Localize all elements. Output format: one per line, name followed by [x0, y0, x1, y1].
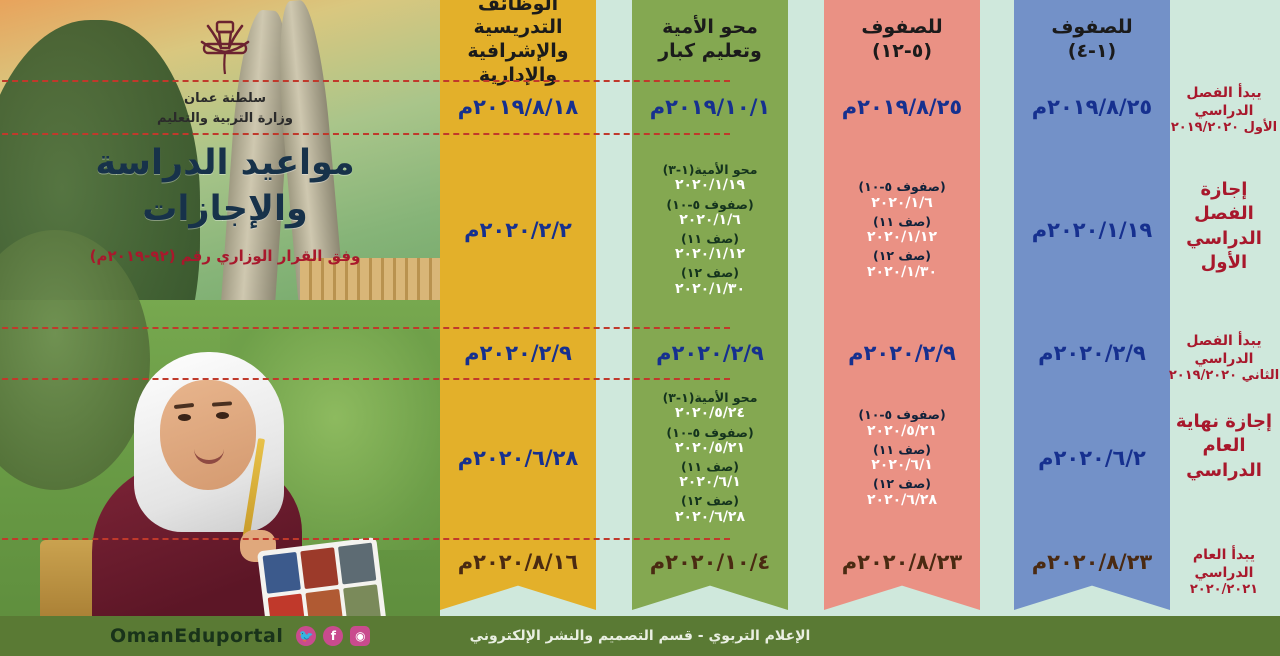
row-label-1: إجازة الفصلالدراسي الأول	[1168, 178, 1280, 275]
cell-literacy-r0: ٢٠١٩/١٠/١م	[632, 82, 788, 132]
row-label-line2: العام الدراسي	[1168, 434, 1280, 483]
cell-date: ٢٠٢٠/٢/٩م	[848, 341, 956, 365]
cell-date: ٢٠٢٠/٨/١٦م	[458, 550, 578, 574]
group-date: ٢٠٢٠/٦/١	[871, 457, 933, 473]
row-label-3: إجازة نهايةالعام الدراسي	[1168, 410, 1280, 483]
cell-date-group: (صفوف ٥-١٠)٢٠٢٠/١/٦	[858, 180, 945, 210]
page-title: مواعيد الدراسة والإجازات	[60, 141, 390, 232]
student-eye	[178, 414, 191, 421]
photo-student	[82, 352, 372, 632]
cell-grades_1_4-r4: ٢٠٢٠/٨/٢٣م	[1014, 540, 1170, 584]
calendar-column-grades_1_4: للصفوف(١-٤)٢٠١٩/٨/٢٥م٢٠٢٠/١/١٩م٢٠٢٠/٢/٩م…	[1014, 0, 1170, 600]
row-divider	[0, 133, 730, 135]
cell-staff-r2: ٢٠٢٠/٢/٩م	[440, 329, 596, 377]
row-label-line2: ٢٠٢٠/٢٠٢١	[1168, 582, 1280, 599]
cell-date-group: (صف ١٢)٢٠٢٠/١/٣٠	[675, 266, 745, 296]
cell-date: ٢٠٢٠/٨/٢٣م	[842, 550, 962, 574]
cell-date: ٢٠٢٠/٦/٢٨م	[458, 446, 578, 470]
group-label: (صف ١٢)	[675, 266, 745, 280]
group-label: (صف ١٢)	[867, 477, 937, 491]
group-label: (صف ١٢)	[675, 494, 745, 508]
group-label: (صفوف ٥-١٠)	[666, 198, 753, 212]
cell-staff-r4: ٢٠٢٠/٨/١٦م	[440, 540, 596, 584]
row-divider	[0, 327, 730, 329]
row-divider	[0, 378, 730, 380]
cell-literacy-r3: محو الأمية(١-٣)٢٠٢٠/٥/٢٤(صفوف ٥-١٠)٢٠٢٠/…	[632, 380, 788, 536]
row-label-column: يبدأ الفصل الدراسيالأول ٢٠١٩/٢٠٢٠إجازة ا…	[1168, 0, 1280, 620]
group-label: محو الأمية(١-٣)	[663, 163, 758, 177]
page-title-line2: والإجازات	[60, 187, 390, 233]
column-header-grades_5_12: للصفوف(٥-١٢)	[824, 0, 980, 80]
column-header-staff: الوظائف التدريسيةوالإشرافية والإدارية	[440, 0, 596, 80]
group-label: (صفوف ٥-١٠)	[666, 426, 753, 440]
column-header-line2: وتعليم كبار	[658, 40, 762, 64]
emblem-ministry: وزارة التربية والتعليم	[157, 110, 293, 128]
cell-date-group: (صف ١١)٢٠٢٠/١/١٢	[675, 232, 745, 262]
cell-staff-r3: ٢٠٢٠/٦/٢٨م	[440, 380, 596, 536]
group-date: ٢٠٢٠/١/٦	[666, 212, 753, 228]
oman-emblem: سلطنة عمان وزارة التربية والتعليم	[60, 18, 390, 127]
cell-date: ٢٠٢٠/٢/٩م	[464, 341, 572, 365]
row-label-line1: إجازة نهاية	[1168, 410, 1280, 434]
cell-date: ٢٠٢٠/٢/٩م	[656, 341, 764, 365]
student-eye	[216, 412, 229, 419]
calendar-column-grades_5_12: للصفوف(٥-١٢)٢٠١٩/٨/٢٥م(صفوف ٥-١٠)٢٠٢٠/١/…	[824, 0, 980, 600]
cell-date: ٢٠١٩/١٠/١م	[650, 95, 770, 119]
group-date: ٢٠٢٠/٦/٢٨	[675, 509, 745, 525]
group-label: (صفوف ٥-١٠)	[858, 408, 945, 422]
group-date: ٢٠٢٠/٥/٢٤	[663, 405, 758, 421]
twitter-icon[interactable]: 🐦	[296, 626, 316, 646]
row-divider	[0, 538, 730, 540]
cell-date-group: محو الأمية(١-٣)٢٠٢٠/٥/٢٤	[663, 391, 758, 421]
cell-date: ٢٠١٩/٨/٢٥م	[1032, 95, 1152, 119]
cell-staff-r1: ٢٠٢٠/٢/٢م	[440, 135, 596, 325]
cell-date-group: (صفوف ٥-١٠)٢٠٢٠/٥/٢١	[858, 408, 945, 438]
column-header-grades_1_4: للصفوف(١-٤)	[1014, 0, 1170, 80]
row-label-0: يبدأ الفصل الدراسيالأول ٢٠١٩/٢٠٢٠	[1168, 84, 1280, 137]
facebook-icon[interactable]: f	[323, 626, 343, 646]
column-header-line1: الوظائف التدريسية	[440, 0, 596, 40]
cell-grades_1_4-r3: ٢٠٢٠/٦/٢م	[1014, 380, 1170, 536]
row-label-line2: الدراسي الأول	[1168, 227, 1280, 276]
group-date: ٢٠٢٠/٦/٢٨	[867, 492, 937, 508]
cell-grades_1_4-r1: ٢٠٢٠/١/١٩م	[1014, 135, 1170, 325]
group-date: ٢٠٢٠/٦/١	[679, 474, 741, 490]
group-label: (صف ١١)	[675, 232, 745, 246]
column-header-line2: (١-٤)	[1051, 40, 1132, 64]
cell-grades_1_4-r2: ٢٠٢٠/٢/٩م	[1014, 329, 1170, 377]
cell-date-group: (صف ١٢)٢٠٢٠/١/٣٠	[867, 249, 937, 279]
group-label: (صف ١١)	[867, 215, 937, 229]
cell-grades_5_12-r1: (صفوف ٥-١٠)٢٠٢٠/١/٦(صف ١١)٢٠٢٠/١/١٢(صف ١…	[824, 135, 980, 325]
row-label-line2: الأول ٢٠١٩/٢٠٢٠	[1168, 120, 1280, 137]
cell-date-group: (صف ١١)٢٠٢٠/٦/١	[679, 460, 741, 490]
row-label-line1: يبدأ الفصل الدراسي	[1168, 84, 1280, 120]
cell-date: ٢٠٢٠/٢/٩م	[1038, 341, 1146, 365]
cell-date: ٢٠٢٠/٢/٢م	[464, 218, 572, 242]
group-label: (صف ١١)	[679, 460, 741, 474]
cell-literacy-r4: ٢٠٢٠/١٠/٤م	[632, 540, 788, 584]
cell-date-group: (صف ١٢)٢٠٢٠/٦/٢٨	[867, 477, 937, 507]
calendar-column-staff: الوظائف التدريسيةوالإشرافية والإدارية٢٠١…	[440, 0, 596, 600]
cell-grades_1_4-r0: ٢٠١٩/٨/٢٥م	[1014, 82, 1170, 132]
cell-date-group: (صفوف ٥-١٠)٢٠٢٠/١/٦	[666, 198, 753, 228]
footer-bar: الإعلام التربوي - قسم التصميم والنشر الإ…	[0, 616, 1280, 656]
cell-date-group: (صف ١٢)٢٠٢٠/٦/٢٨	[675, 494, 745, 524]
cell-date: ٢٠١٩/٨/٢٥م	[842, 95, 962, 119]
group-date: ٢٠٢٠/١/٣٠	[675, 281, 745, 297]
cell-literacy-r1: محو الأمية(١-٣)٢٠٢٠/١/١٩(صفوف ٥-١٠)٢٠٢٠/…	[632, 135, 788, 325]
calendar-column-literacy: محو الأميةوتعليم كبار٢٠١٩/١٠/١ممحو الأمي…	[632, 0, 788, 600]
cell-date: ٢٠٢٠/٦/٢م	[1038, 446, 1146, 470]
row-label-2: يبدأ الفصل الدراسيالثاني ٢٠١٩/٢٠٢٠	[1168, 332, 1280, 385]
group-label: (صف ١١)	[871, 443, 933, 457]
row-label-4: يبدأ العام الدراسي٢٠٢٠/٢٠٢١	[1168, 546, 1280, 599]
social-links[interactable]: ◉ f 🐦 OmanEduportal	[110, 625, 370, 647]
instagram-icon[interactable]: ◉	[350, 626, 370, 646]
cell-date-group: (صفوف ٥-١٠)٢٠٢٠/٥/٢١	[666, 426, 753, 456]
cell-date: ٢٠٢٠/١/١٩م	[1032, 218, 1152, 242]
group-date: ٢٠٢٠/١/٣٠	[867, 264, 937, 280]
title-block: سلطنة عمان وزارة التربية والتعليم مواعيد…	[60, 18, 390, 267]
poster-root: سلطنة عمان وزارة التربية والتعليم مواعيد…	[0, 0, 1280, 656]
cell-grades_5_12-r4: ٢٠٢٠/٨/٢٣م	[824, 540, 980, 584]
social-handle[interactable]: OmanEduportal	[110, 625, 283, 647]
page-title-line1: مواعيد الدراسة	[60, 141, 390, 187]
calendar-columns: للصفوف(١-٤)٢٠١٩/٨/٢٥م٢٠٢٠/١/١٩م٢٠٢٠/٢/٩م…	[440, 0, 1170, 620]
column-header-literacy: محو الأميةوتعليم كبار	[632, 0, 788, 80]
group-date: ٢٠٢٠/١/١٢	[675, 246, 745, 262]
row-divider	[0, 80, 730, 82]
group-date: ٢٠٢٠/١/٦	[858, 195, 945, 211]
group-date: ٢٠٢٠/١/١٢	[867, 229, 937, 245]
group-label: (صف ١٢)	[867, 249, 937, 263]
group-label: (صفوف ٥-١٠)	[858, 180, 945, 194]
cell-date: ٢٠٢٠/٨/٢٣م	[1032, 550, 1152, 574]
column-header-line1: محو الأمية	[658, 16, 762, 40]
emblem-country: سلطنة عمان	[184, 90, 266, 108]
cell-date-group: (صف ١١)٢٠٢٠/٦/١	[871, 443, 933, 473]
cell-grades_5_12-r2: ٢٠٢٠/٢/٩م	[824, 329, 980, 377]
khanjar-emblem-icon	[188, 18, 262, 88]
row-label-line2: الثاني ٢٠١٩/٢٠٢٠	[1168, 368, 1280, 385]
cell-date: ٢٠٢٠/١٠/٤م	[650, 550, 770, 574]
group-date: ٢٠٢٠/١/١٩	[663, 177, 758, 193]
column-header-line2: (٥-١٢)	[861, 40, 942, 64]
column-header-line1: للصفوف	[861, 16, 942, 40]
cell-staff-r0: ٢٠١٩/٨/١٨م	[440, 82, 596, 132]
group-label: محو الأمية(١-٣)	[663, 391, 758, 405]
group-date: ٢٠٢٠/٥/٢١	[858, 423, 945, 439]
cell-date-group: (صف ١١)٢٠٢٠/١/١٢	[867, 215, 937, 245]
cell-grades_5_12-r0: ٢٠١٩/٨/٢٥م	[824, 82, 980, 132]
cell-date: ٢٠١٩/٨/١٨م	[458, 95, 578, 119]
row-label-line1: إجازة الفصل	[1168, 178, 1280, 227]
column-header-line1: للصفوف	[1051, 16, 1132, 40]
group-date: ٢٠٢٠/٥/٢١	[666, 440, 753, 456]
cell-literacy-r2: ٢٠٢٠/٢/٩م	[632, 329, 788, 377]
student-face	[160, 380, 256, 490]
row-label-line1: يبدأ العام الدراسي	[1168, 546, 1280, 582]
cell-grades_5_12-r3: (صفوف ٥-١٠)٢٠٢٠/٥/٢١(صف ١١)٢٠٢٠/٦/١(صف ١…	[824, 380, 980, 536]
cell-date-group: محو الأمية(١-٣)٢٠٢٠/١/١٩	[663, 163, 758, 193]
page-subtitle: وفق القرار الوزاري رقم (٩٢-٢٠١٩م)	[60, 246, 390, 267]
row-label-line1: يبدأ الفصل الدراسي	[1168, 332, 1280, 368]
